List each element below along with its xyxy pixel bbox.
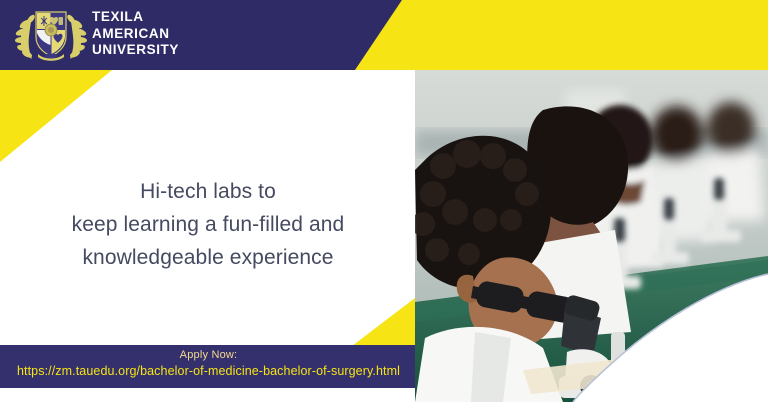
headline: Hi-tech labs to keep learning a fun-fill… (8, 175, 408, 274)
yellow-triangle-top-left (0, 70, 112, 162)
apply-now-url[interactable]: https://zm.tauedu.org/bachelor-of-medici… (0, 362, 417, 380)
brand-line-1: TEXILA (92, 9, 179, 26)
brand-line-3: UNIVERSITY (92, 42, 179, 59)
headline-line-3: knowledgeable experience (8, 241, 408, 274)
brand-line-2: AMERICAN (92, 26, 179, 43)
brand-wordmark: TEXILA AMERICAN UNIVERSITY (92, 9, 179, 59)
laboratory-students-microscopes-photo (415, 70, 768, 402)
headline-line-1: Hi-tech labs to (8, 175, 408, 208)
headline-line-2: keep learning a fun-filled and (8, 208, 408, 241)
promotional-banner: TEXILA AMERICAN UNIVERSITY Hi-tech labs … (0, 0, 768, 402)
university-crest-laurel-logo-icon (14, 4, 88, 64)
apply-now-bar[interactable]: Apply Now: https://zm.tauedu.org/bachelo… (0, 345, 417, 388)
apply-now-label: Apply Now: (0, 345, 417, 362)
yellow-triangle-bottom-right (352, 298, 415, 346)
